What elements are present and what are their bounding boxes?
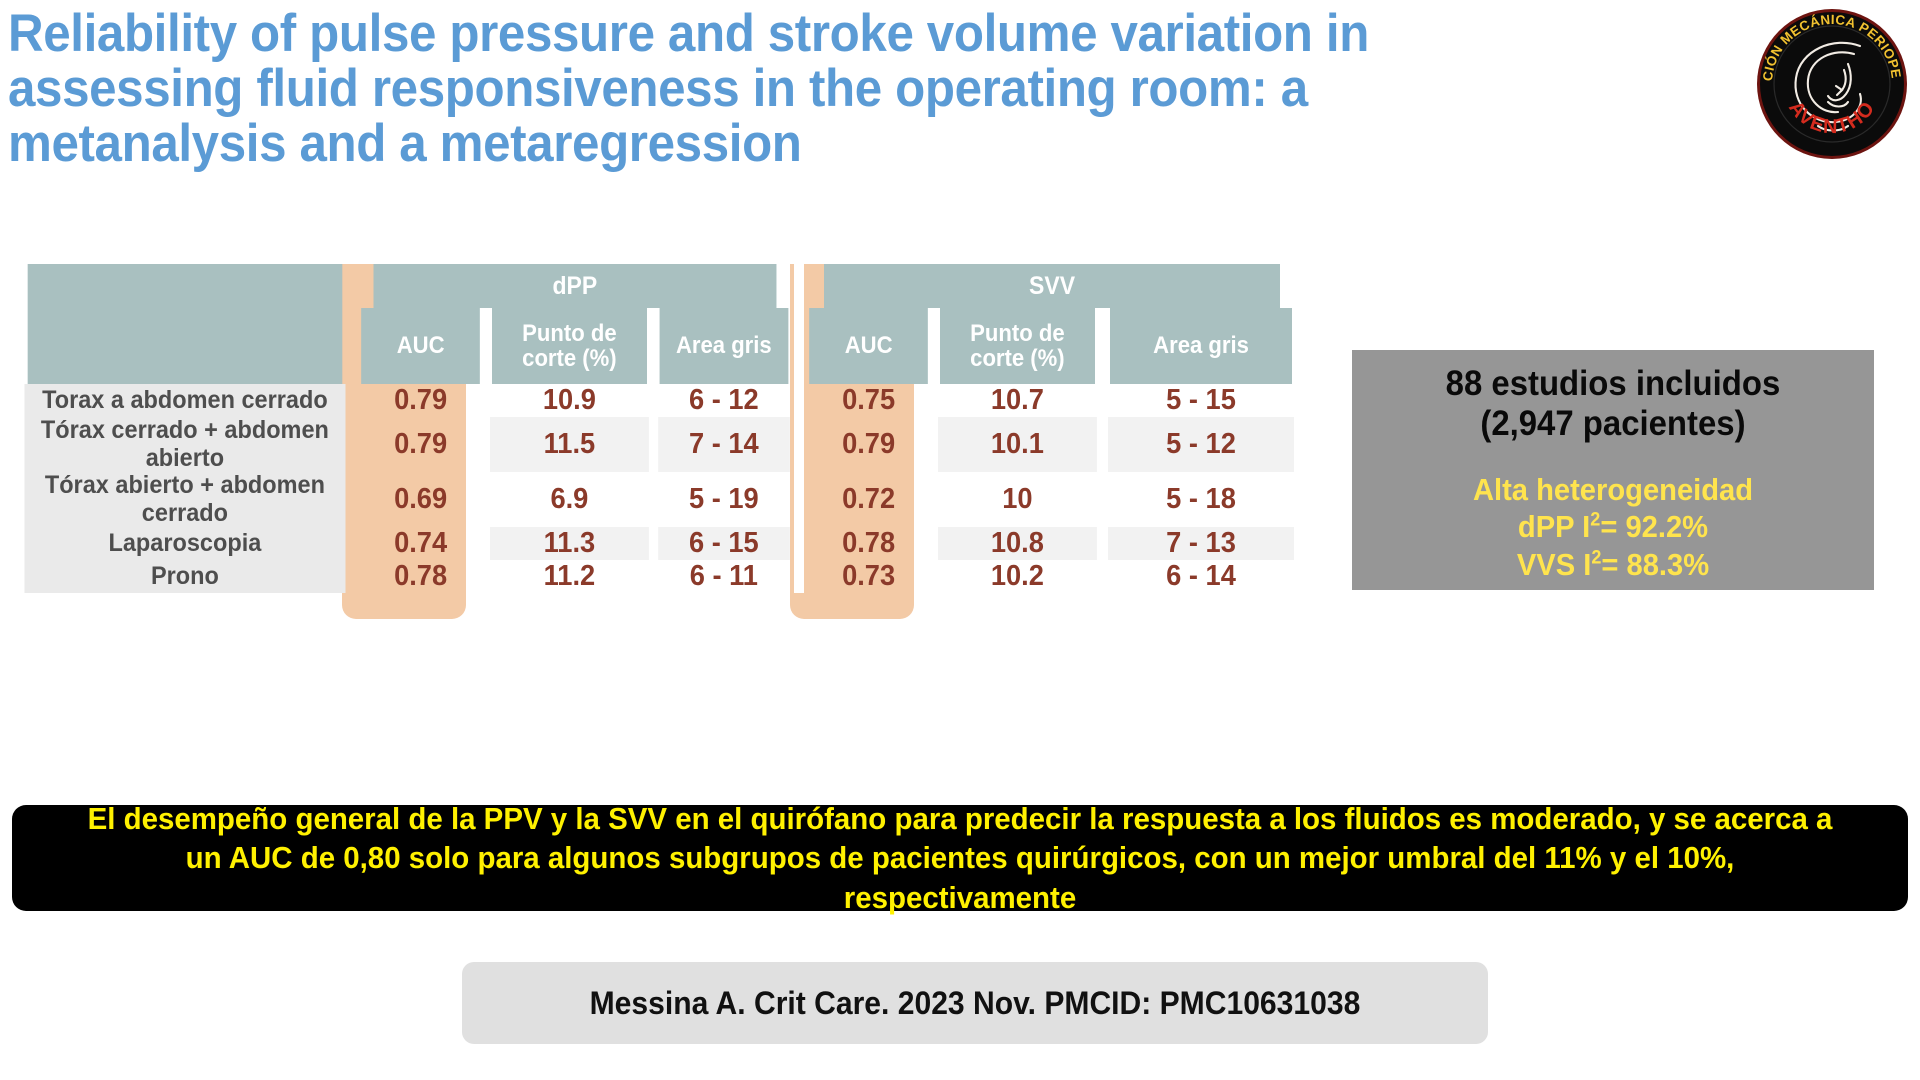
cell-dpp-cutoff: 6.9 xyxy=(490,472,649,527)
row-group-gap xyxy=(794,384,804,417)
group-gap-2 xyxy=(794,308,804,384)
table-row: Tórax cerrado + abdomen abierto0.7911.57… xyxy=(14,417,1300,472)
cell-svv-cutoff: 10.8 xyxy=(938,527,1097,560)
cell-svv-grayzone: 6 - 14 xyxy=(1108,560,1294,593)
row-group-gap xyxy=(794,527,804,560)
i2-superscript-dpp: 2 xyxy=(1590,510,1600,531)
cell-svv-auc: 0.78 xyxy=(808,527,929,560)
cell-dpp-auc: 0.69 xyxy=(360,472,481,527)
cell-svv-cutoff: 10.1 xyxy=(938,417,1097,472)
cell-svv-auc: 0.75 xyxy=(808,384,929,417)
row-label: Tórax abierto + abdomen cerrado xyxy=(24,472,345,527)
studies-included-headline: 88 estudios incluidos (2,947 pacientes) xyxy=(1446,364,1781,445)
cell-dpp-auc: 0.79 xyxy=(360,417,481,472)
table-row: Prono0.7811.26 - 110.7310.26 - 14 xyxy=(14,560,1300,593)
aventho-logo: VENTILACIÓN MECÁNICA PERIOPERATORIA AVEN… xyxy=(1756,8,1908,160)
conclusion-text: El desempeño general de la PPV y la SVV … xyxy=(73,799,1848,916)
group-gap xyxy=(794,264,804,308)
cell-dpp-cutoff: 11.3 xyxy=(490,527,649,560)
cell-svv-grayzone: 5 - 18 xyxy=(1108,472,1294,527)
cell-dpp-auc: 0.78 xyxy=(360,560,481,593)
summary-stats-box: 88 estudios incluidos (2,947 pacientes) … xyxy=(1352,350,1874,590)
row-label: Laparoscopia xyxy=(24,527,345,560)
dpp-i2-value: = 92.2% xyxy=(1600,509,1708,544)
title-block: Reliability of pulse pressure and stroke… xyxy=(8,6,1508,171)
heterogeneity-label: Alta heterogeneidad xyxy=(1473,471,1753,509)
subheader-svv-cutoff: Punto de corte (%) xyxy=(940,308,1095,384)
cell-dpp-cutoff: 11.2 xyxy=(490,560,649,593)
cell-svv-grayzone: 5 - 12 xyxy=(1108,417,1294,472)
row-group-gap xyxy=(794,560,804,593)
cell-svv-grayzone: 5 - 15 xyxy=(1108,384,1294,417)
cell-svv-auc: 0.73 xyxy=(808,560,929,593)
group-header-svv: SVV xyxy=(824,264,1280,308)
row-label: Prono xyxy=(24,560,345,593)
dpp-i2-prefix: dPP I xyxy=(1518,509,1590,544)
cell-svv-grayzone: 7 - 13 xyxy=(1108,527,1294,560)
results-table: dPP SVV AUC Punto de corte (%) Area gris… xyxy=(14,264,1300,593)
row-group-gap xyxy=(794,417,804,472)
corner-cell xyxy=(28,264,342,308)
cell-svv-cutoff: 10.2 xyxy=(938,560,1097,593)
row-label: Tórax cerrado + abdomen abierto xyxy=(24,417,345,472)
heterogeneity-block: Alta heterogeneidad dPP I2= 92.2% VVS I2… xyxy=(1473,471,1753,584)
cell-dpp-grayzone: 7 - 14 xyxy=(658,417,789,472)
svv-i2-value: = 88.3% xyxy=(1601,547,1709,582)
table-subheader-row: AUC Punto de corte (%) Area gris AUC Pun… xyxy=(14,308,1300,384)
svv-i2-line: VVS I2= 88.3% xyxy=(1473,546,1753,584)
cell-dpp-cutoff: 10.9 xyxy=(490,384,649,417)
citation-text: Messina A. Crit Care. 2023 Nov. PMCID: P… xyxy=(590,985,1361,1022)
cell-dpp-auc: 0.79 xyxy=(360,384,481,417)
citation-box: Messina A. Crit Care. 2023 Nov. PMCID: P… xyxy=(462,962,1488,1044)
subheader-svv-grayzone: Area gris xyxy=(1110,308,1292,384)
table-row: Tórax abierto + abdomen cerrado0.696.95 … xyxy=(14,472,1300,527)
table-row: Torax a abdomen cerrado0.7910.96 - 120.7… xyxy=(14,384,1300,417)
group-header-dpp: dPP xyxy=(373,264,776,308)
cell-dpp-grayzone: 5 - 19 xyxy=(658,472,789,527)
cell-svv-cutoff: 10 xyxy=(938,472,1097,527)
table-group-header-row: dPP SVV xyxy=(14,264,1300,308)
cell-svv-auc: 0.72 xyxy=(808,472,929,527)
page-title: Reliability of pulse pressure and stroke… xyxy=(8,6,1403,171)
cell-dpp-grayzone: 6 - 15 xyxy=(658,527,789,560)
corner-cell-2 xyxy=(28,308,342,384)
subheader-dpp-cutoff: Punto de corte (%) xyxy=(492,308,647,384)
cell-dpp-grayzone: 6 - 11 xyxy=(658,560,789,593)
cell-dpp-cutoff: 11.5 xyxy=(490,417,649,472)
subheader-dpp-auc: AUC xyxy=(361,308,480,384)
dpp-i2-line: dPP I2= 92.2% xyxy=(1473,508,1753,546)
i2-superscript-svv: 2 xyxy=(1591,548,1601,569)
cell-dpp-auc: 0.74 xyxy=(360,527,481,560)
subheader-svv-auc: AUC xyxy=(809,308,928,384)
row-label: Torax a abdomen cerrado xyxy=(24,384,345,417)
subheader-dpp-grayzone: Area gris xyxy=(659,308,787,384)
cell-dpp-grayzone: 6 - 12 xyxy=(658,384,789,417)
svv-i2-prefix: VVS I xyxy=(1517,547,1592,582)
table-row: Laparoscopia0.7411.36 - 150.7810.87 - 13 xyxy=(14,527,1300,560)
cell-svv-cutoff: 10.7 xyxy=(938,384,1097,417)
row-group-gap xyxy=(794,472,804,527)
conclusion-banner: El desempeño general de la PPV y la SVV … xyxy=(12,805,1908,911)
cell-svv-auc: 0.79 xyxy=(808,417,929,472)
